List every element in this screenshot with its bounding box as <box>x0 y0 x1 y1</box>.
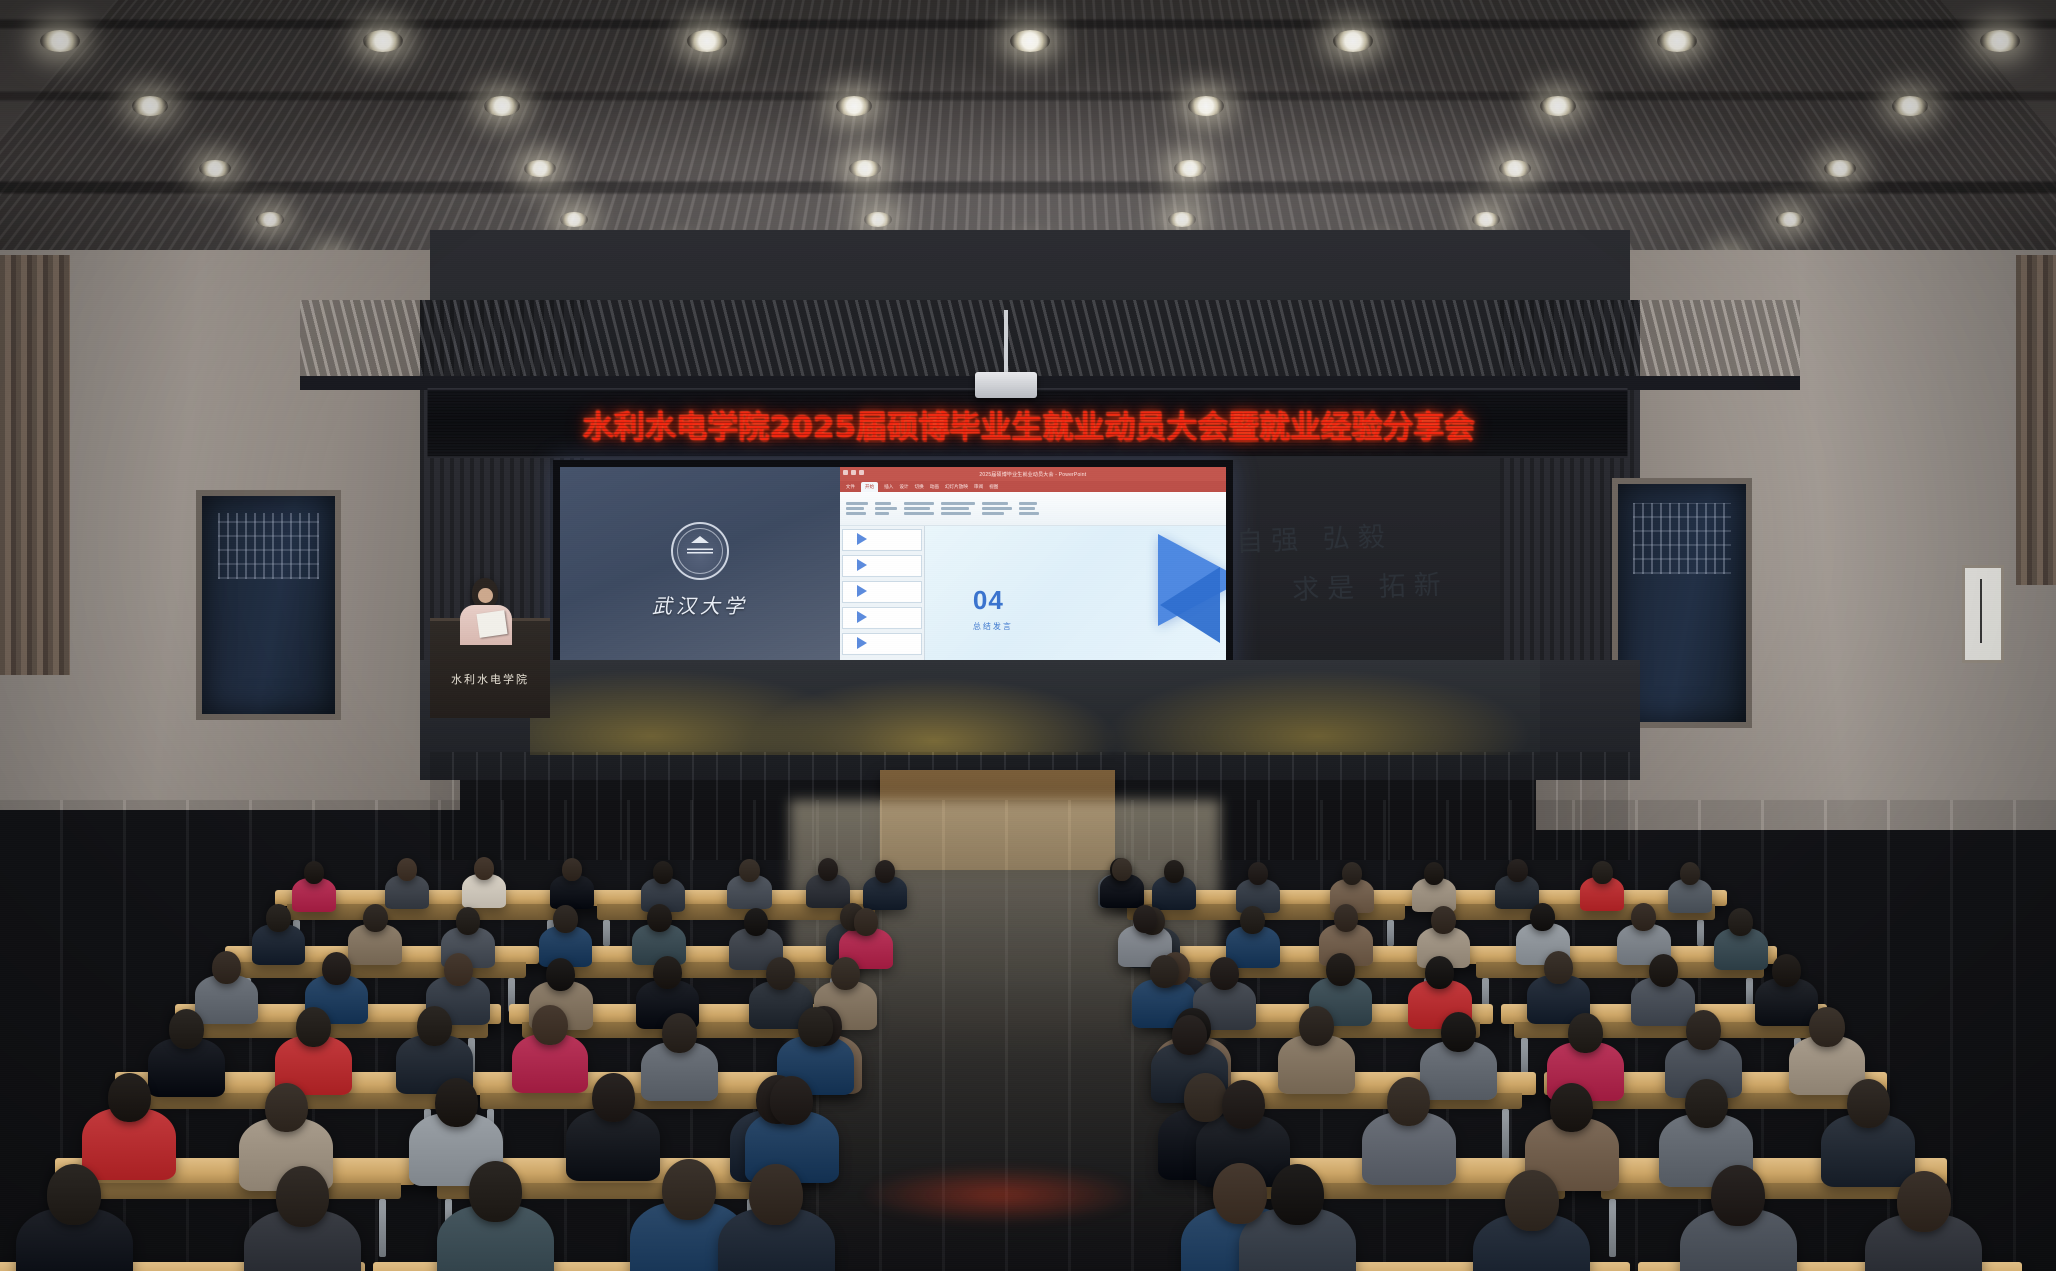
slide-number-text: 04 <box>973 585 1004 616</box>
ceiling-downlight <box>1188 96 1224 116</box>
audience-member-head <box>744 908 769 936</box>
ppt-tab-设计[interactable]: 设计 <box>899 484 908 490</box>
presenter-notes <box>476 610 507 638</box>
audience-member-head <box>553 905 578 933</box>
audience-member-head <box>1271 1164 1325 1225</box>
audience-member-head <box>1728 908 1753 936</box>
audience-member-head <box>1210 957 1239 990</box>
ceiling-downlight <box>199 160 231 177</box>
audience-member-head <box>1686 1010 1721 1050</box>
audience-member-head <box>456 907 481 935</box>
audience-member-head <box>1184 1073 1227 1122</box>
stage-mural <box>530 660 1540 755</box>
audience-member-head <box>1507 859 1527 882</box>
ppt-tab-文件[interactable]: 文件 <box>846 484 855 490</box>
audience-member-head <box>1680 862 1700 885</box>
ceiling-downlight <box>1824 160 1856 177</box>
slide-thumbnail[interactable] <box>842 607 922 629</box>
audience-member-head <box>831 957 860 990</box>
ceiling-downlight <box>1499 160 1531 177</box>
thumbnail-chevron-icon <box>857 637 867 649</box>
audience-member-head <box>1150 955 1179 988</box>
audience-member-head <box>1172 1015 1207 1055</box>
ppt-tab-幻灯片放映[interactable]: 幻灯片放映 <box>945 484 968 490</box>
audience-member-head <box>532 1005 567 1045</box>
audience-member-head <box>1164 860 1184 883</box>
audience-member-head <box>647 904 672 932</box>
audience-member-head <box>417 1006 452 1046</box>
powerpoint-titlebar: 2025届硕博毕业生就业动员大会 - PowerPoint <box>840 467 1226 481</box>
slide-thumbnail[interactable] <box>842 633 922 655</box>
framed-artwork <box>1962 565 2004 663</box>
ceiling-downlight <box>484 96 520 116</box>
audience-member-head <box>653 861 673 884</box>
calligraphy-line-1: 自强 弘毅 <box>1235 512 1466 559</box>
audience-member-head <box>818 858 838 881</box>
lecture-hall-scene: 水利水电学院2025届硕博毕业生就业动员大会暨就业经验分享会 武汉大学 2025… <box>0 0 2056 1271</box>
desk-leg <box>1387 920 1394 946</box>
audience-member-head <box>1299 1006 1334 1046</box>
audience-member-head <box>322 952 351 985</box>
audience-member-head <box>766 957 795 990</box>
audience-member-head <box>1505 1170 1559 1231</box>
projector-pole <box>1004 310 1008 372</box>
audience-member-head <box>444 953 473 986</box>
audience-member-head <box>662 1159 716 1220</box>
audience-member-head <box>1544 951 1573 984</box>
quick-access-toolbar[interactable] <box>843 470 864 475</box>
university-name: 武汉大学 <box>652 590 748 619</box>
thumbnail-chevron-icon <box>857 585 867 597</box>
audience-member-head <box>1334 904 1359 932</box>
audience-member-head <box>435 1078 478 1127</box>
desk-leg <box>1609 1199 1616 1257</box>
thumbnail-chevron-icon <box>857 559 867 571</box>
desk-leg <box>1697 920 1704 946</box>
ppt-tab-开始[interactable]: 开始 <box>861 482 878 492</box>
ribbon-group-drawing[interactable] <box>982 502 1012 515</box>
audience-member-head <box>1222 1080 1265 1129</box>
audience-member-head <box>662 1013 697 1053</box>
audience-member-head <box>749 1164 803 1225</box>
red-ceiling-valance <box>300 300 1800 390</box>
audience-member-head <box>1425 956 1454 989</box>
redo-icon[interactable] <box>859 470 864 475</box>
ppt-tab-动画[interactable]: 动画 <box>930 484 939 490</box>
ceiling-downlight <box>1540 96 1576 116</box>
audience-member-head <box>1240 906 1265 934</box>
ribbon-group-paragraph[interactable] <box>941 502 975 515</box>
audience-member-head <box>1772 954 1801 987</box>
audience-member-head <box>875 860 895 883</box>
powerpoint-window[interactable]: 2025届硕博毕业生就业动员大会 - PowerPoint 文件开始插入设计切换… <box>840 467 1226 673</box>
audience-member-head <box>1112 858 1132 881</box>
ppt-tab-切换[interactable]: 切换 <box>915 484 924 490</box>
desk-leg <box>379 1199 386 1257</box>
ceiling-downlight <box>132 96 168 116</box>
audience-member-head <box>276 1166 330 1227</box>
audience-member-head <box>653 956 682 989</box>
audience-member-head <box>47 1164 101 1225</box>
audience-member-head <box>1711 1165 1765 1226</box>
curtain-left <box>0 255 70 675</box>
audience-member-head <box>1685 1079 1728 1128</box>
chevron-graphic-secondary-icon <box>1160 567 1220 643</box>
door-grill-icon <box>218 513 319 578</box>
audience-member-head <box>1631 903 1656 931</box>
projection-screen: 武汉大学 2025届硕博毕业生就业动员大会 - PowerPoint 文件开始插… <box>553 460 1233 680</box>
ppt-tab-审阅[interactable]: 审阅 <box>974 484 983 490</box>
audience-member-head <box>739 859 759 882</box>
audience-member-head <box>1342 862 1362 885</box>
audience-member-head <box>108 1073 151 1122</box>
ceiling-downlight <box>864 212 892 227</box>
ceiling-downlight <box>1472 212 1500 227</box>
audience-member-head <box>1897 1171 1951 1232</box>
ribbon-group-clipboard[interactable] <box>846 502 868 515</box>
audience-member-head <box>1847 1079 1890 1128</box>
desk-leg <box>1502 1109 1509 1159</box>
ppt-tab-视图[interactable]: 视图 <box>989 484 998 490</box>
classroom-desk <box>547 946 861 964</box>
ribbon-group-editing[interactable] <box>1019 502 1039 515</box>
ceiling-downlight <box>687 30 727 52</box>
presenter-face <box>478 588 493 603</box>
desk-leg <box>603 920 610 946</box>
audience-member-head <box>592 1073 635 1122</box>
audience-member-head <box>397 858 417 881</box>
audience-member-head <box>1133 905 1158 933</box>
ceiling-downlight <box>524 160 556 177</box>
audience-member-head <box>1431 906 1456 934</box>
audience-member-head <box>1568 1013 1603 1053</box>
calligraphy-line-2: 求是 拓新 <box>1291 562 1466 607</box>
wall-calligraphy: 自强 弘毅 求是 拓新 <box>1236 516 1466 626</box>
ppt-tab-插入[interactable]: 插入 <box>884 484 893 490</box>
audience-member-head <box>1387 1077 1430 1126</box>
audience-member-head <box>798 1007 833 1047</box>
ceiling-downlight <box>1010 30 1050 52</box>
ceiling-downlight <box>40 30 80 52</box>
powerpoint-title-text: 2025届硕博毕业生就业动员大会 - PowerPoint <box>979 471 1086 478</box>
led-banner-text: 水利水电学院2025届硕博毕业生就业动员大会暨就业经验分享会 <box>582 400 1474 445</box>
ceiling-projector <box>975 372 1037 402</box>
ceiling-downlight <box>836 96 872 116</box>
audience-member-head <box>363 904 388 932</box>
ribbon-group-slides[interactable] <box>875 502 897 515</box>
save-icon[interactable] <box>843 470 848 475</box>
audience-member-head <box>770 1076 813 1125</box>
slide-thumbnail-pane[interactable] <box>840 526 925 661</box>
ceiling-downlight <box>1892 96 1928 116</box>
audience-member-head <box>296 1007 331 1047</box>
thumbnail-chevron-icon <box>857 533 867 545</box>
slide-canvas[interactable]: 04 总结发言 <box>925 526 1226 661</box>
thumbnail-chevron-icon <box>857 611 867 623</box>
audience-member-head <box>474 857 494 880</box>
banner-floor-reflection <box>800 1160 1200 1230</box>
wuhan-university-seal-icon <box>671 522 729 580</box>
slide-thumbnail[interactable] <box>842 581 922 603</box>
audience-member-head <box>266 904 291 932</box>
audience-member-head <box>1649 954 1678 987</box>
ceiling-downlight <box>1980 30 2020 52</box>
ceiling-downlight <box>256 212 284 227</box>
audience-member-head <box>469 1161 523 1222</box>
ceiling-downlight <box>1657 30 1697 52</box>
audience-member-head <box>1424 862 1444 885</box>
curtain-right <box>2016 255 2056 585</box>
audience-member-head <box>169 1009 204 1049</box>
slide-thumbnail[interactable] <box>842 529 922 551</box>
podium-plate-text: 水利水电学院 <box>451 671 529 687</box>
audience-member-head <box>1248 862 1268 885</box>
ceiling-downlight <box>1776 212 1804 227</box>
audience-member-head <box>1326 953 1355 986</box>
audience-member-head <box>212 951 241 984</box>
seal-building-glyph <box>687 543 713 559</box>
powerpoint-ribbon[interactable] <box>840 492 1226 526</box>
audience-member-head <box>1530 903 1555 931</box>
ribbon-group-font[interactable] <box>904 502 934 515</box>
audience-member-head <box>1550 1083 1593 1132</box>
audience-member-head <box>1592 861 1612 884</box>
ceiling-downlight <box>849 160 881 177</box>
ceiling-downlight <box>1174 160 1206 177</box>
slide-thumbnail[interactable] <box>842 555 922 577</box>
audience-member-head <box>1441 1012 1476 1052</box>
powerpoint-body: 04 总结发言 <box>840 526 1226 661</box>
presenter-at-podium <box>452 578 522 640</box>
screen-left-panel: 武汉大学 <box>560 467 840 673</box>
slide-subtitle-text: 总结发言 <box>973 621 1013 632</box>
audience-member-head <box>854 908 879 936</box>
undo-icon[interactable] <box>851 470 856 475</box>
ceiling-downlight <box>1168 212 1196 227</box>
hall-door-left[interactable] <box>196 490 341 720</box>
audience-member-head <box>546 958 575 991</box>
audience-member-head <box>1213 1163 1267 1224</box>
audience-member-head <box>1809 1007 1844 1047</box>
ceiling-downlight <box>560 212 588 227</box>
audience-member-head <box>265 1083 308 1132</box>
powerpoint-ribbon-tabs[interactable]: 文件开始插入设计切换动画幻灯片放映审阅视图 <box>840 481 1226 492</box>
projector-body <box>975 372 1037 398</box>
door-grill-icon <box>1633 503 1730 574</box>
